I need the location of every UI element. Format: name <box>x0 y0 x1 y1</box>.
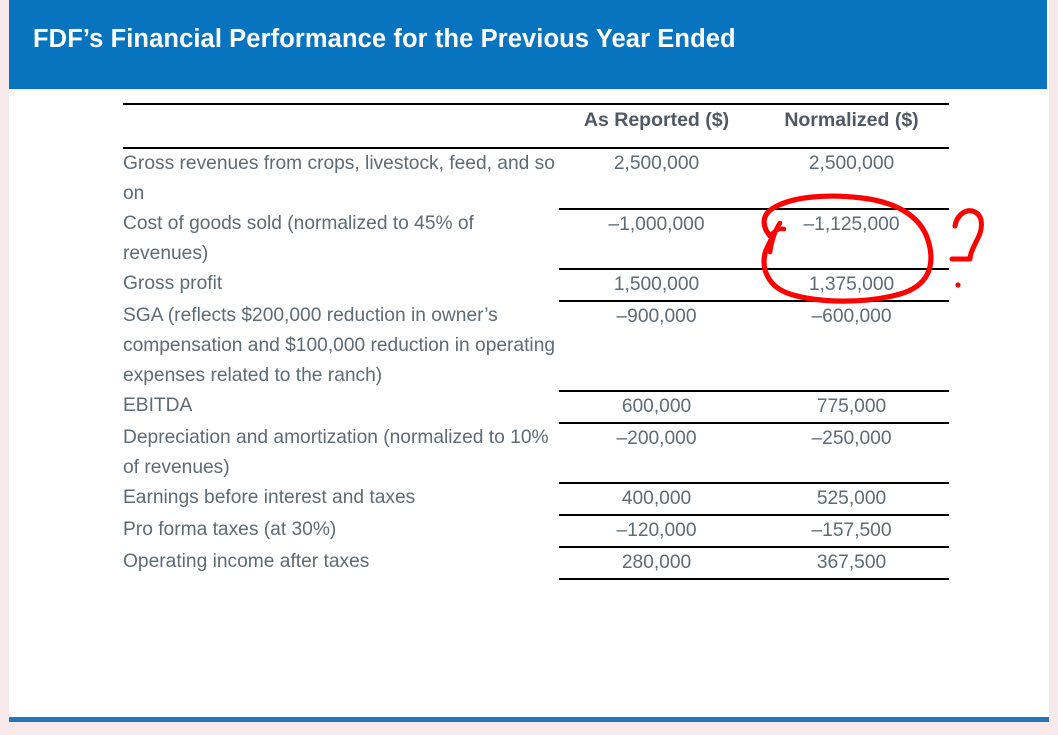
table-row: EBITDA 600,000 775,000 <box>123 391 949 423</box>
row-value-as-reported: 400,000 <box>559 483 754 515</box>
slide-title-bar: FDF’s Financial Performance for the Prev… <box>9 0 1047 89</box>
row-label: Gross revenues from crops, livestock, fe… <box>123 148 559 209</box>
table-row: Gross profit 1,500,000 1,375,000 <box>123 269 949 301</box>
row-label: SGA (reflects $200,000 reduction in owne… <box>123 301 559 391</box>
row-label: Depreciation and amortization (normalize… <box>123 423 559 483</box>
row-value-normalized: 775,000 <box>754 391 949 423</box>
row-label: Pro forma taxes (at 30%) <box>123 515 559 547</box>
slide-canvas: FDF’s Financial Performance for the Prev… <box>9 0 1049 717</box>
row-label: Gross profit <box>123 269 559 301</box>
row-label: Operating income after taxes <box>123 547 559 579</box>
row-value-as-reported: –200,000 <box>559 423 754 483</box>
table-row: Gross revenues from crops, livestock, fe… <box>123 148 949 209</box>
row-value-normalized: –157,500 <box>754 515 949 547</box>
table-row: SGA (reflects $200,000 reduction in owne… <box>123 301 949 391</box>
financial-performance-table: As Reported ($) Normalized ($) Gross rev… <box>123 103 949 580</box>
row-value-as-reported: 1,500,000 <box>559 269 754 301</box>
table-row: Cost of goods sold (normalized to 45% of… <box>123 209 949 269</box>
row-value-normalized: 367,500 <box>754 547 949 579</box>
table-container: As Reported ($) Normalized ($) Gross rev… <box>9 89 1047 717</box>
row-value-as-reported: 280,000 <box>559 547 754 579</box>
row-value-normalized: –1,125,000 <box>754 209 949 269</box>
column-header-normalized: Normalized ($) <box>754 104 949 148</box>
column-header-as-reported: As Reported ($) <box>559 104 754 148</box>
row-label: Cost of goods sold (normalized to 45% of… <box>123 209 559 269</box>
column-header-label <box>123 104 559 148</box>
row-label: EBITDA <box>123 391 559 423</box>
row-value-as-reported: –120,000 <box>559 515 754 547</box>
table-row: Earnings before interest and taxes 400,0… <box>123 483 949 515</box>
page-title: FDF’s Financial Performance for the Prev… <box>33 25 993 54</box>
row-value-as-reported: 2,500,000 <box>559 148 754 209</box>
row-value-as-reported: –900,000 <box>559 301 754 391</box>
row-value-normalized: –600,000 <box>754 301 949 391</box>
row-value-normalized: –250,000 <box>754 423 949 483</box>
bottom-accent-bar <box>9 717 1049 722</box>
row-value-normalized: 525,000 <box>754 483 949 515</box>
row-value-normalized: 2,500,000 <box>754 148 949 209</box>
table-header-row: As Reported ($) Normalized ($) <box>123 104 949 148</box>
row-value-as-reported: 600,000 <box>559 391 754 423</box>
row-label: Earnings before interest and taxes <box>123 483 559 515</box>
table-row: Depreciation and amortization (normalize… <box>123 423 949 483</box>
row-value-normalized: 1,375,000 <box>754 269 949 301</box>
row-value-as-reported: –1,000,000 <box>559 209 754 269</box>
table-row: Pro forma taxes (at 30%) –120,000 –157,5… <box>123 515 949 547</box>
table-row: Operating income after taxes 280,000 367… <box>123 547 949 579</box>
